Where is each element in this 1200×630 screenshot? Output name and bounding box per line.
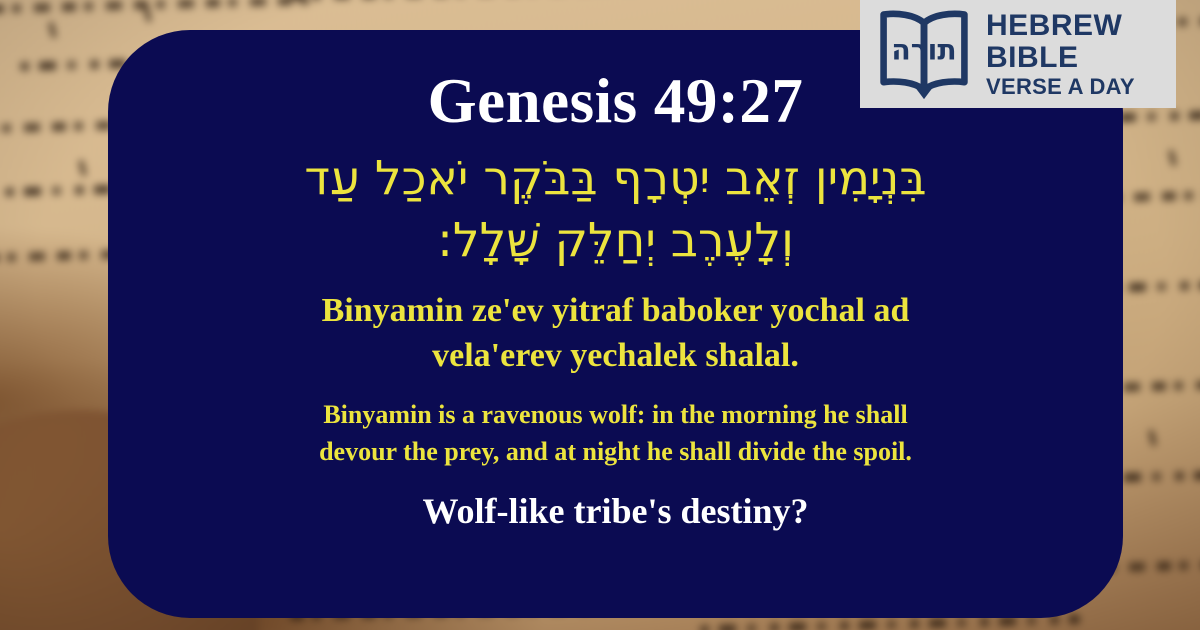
verse-card-image: Genesis 49:27 בִּנְיָמִין זְאֵב יִטְרָף … — [0, 0, 1200, 630]
brand-logo[interactable]: תורה HEBREW BIBLE VERSE A DAY — [860, 0, 1176, 108]
brand-line-2: BIBLE — [986, 43, 1135, 73]
hebrew-verse-line-1: בִּנְיָמִין זְאֵב יִטְרָף בַּבֹּקֶר יֹאכ… — [176, 148, 1056, 210]
tagline: Wolf-like tribe's destiny? — [423, 492, 809, 532]
svg-text:תורה: תורה — [891, 34, 956, 67]
translation-line-2: devour the prey, and at night he shall d… — [221, 434, 1011, 471]
transliteration-line-1: Binyamin ze'ev yitraf baboker yochal ad — [216, 288, 1016, 333]
page-title: Genesis 49:27 — [428, 68, 804, 134]
translation-line-1: Binyamin is a ravenous wolf: in the morn… — [221, 397, 1011, 434]
brand-logo-text: HEBREW BIBLE VERSE A DAY — [986, 11, 1135, 98]
brand-line-1: HEBREW — [986, 11, 1135, 41]
brand-line-3: VERSE A DAY — [986, 76, 1135, 98]
transliteration-line-2: vela'erev yechalek shalal. — [216, 333, 1016, 378]
open-book-icon: תורה — [872, 7, 976, 101]
hebrew-verse-line-2: וְלָעֶרֶב יְחַלֵּק שָׁלָל: — [176, 210, 1056, 272]
verse-panel: Genesis 49:27 בִּנְיָמִין זְאֵב יִטְרָף … — [108, 30, 1123, 618]
